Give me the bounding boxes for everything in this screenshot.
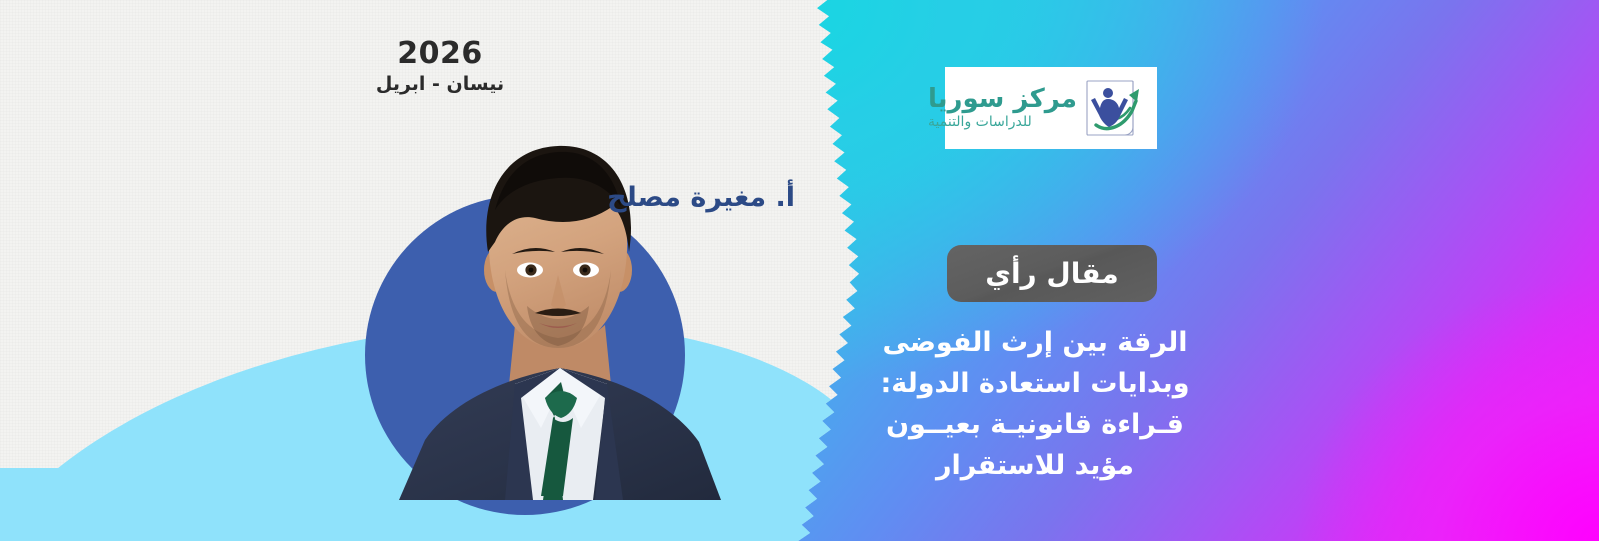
portrait-svg: [355, 110, 755, 500]
organization-logo[interactable]: مركز سوريا للدراسات والتنمية: [945, 67, 1157, 149]
logo-text-block: مركز سوريا للدراسات والتنمية: [928, 86, 1077, 131]
date-block: 2026 نيسان - ابريل: [345, 38, 535, 94]
author-name: أ. مغيرة مصلح: [600, 182, 795, 214]
headline-line-4: مؤيد للاستقرار: [860, 445, 1210, 486]
person-with-raised-arms-and-growth-arrow-icon: [1083, 75, 1149, 141]
torn-paper-panel: 2026 نيسان - ابريل: [0, 0, 860, 541]
author-portrait: [355, 110, 755, 500]
date-month: نيسان - ابريل: [345, 74, 535, 95]
logo-title: مركز سوريا: [928, 86, 1077, 113]
headline-line-1: الرقة بين إرث الفوضى: [860, 322, 1210, 363]
banner-root: 2026 نيسان - ابريل: [0, 0, 1599, 541]
logo-subtitle: للدراسات والتنمية: [928, 115, 1032, 130]
headline-line-2: وبدايات استعادة الدولة:: [860, 363, 1210, 404]
date-year: 2026: [345, 38, 535, 70]
article-headline: الرقة بين إرث الفوضى وبدايات استعادة الد…: [860, 322, 1210, 486]
article-type-badge-label: مقال رأي: [985, 260, 1118, 288]
headline-line-3: قـراءة قانونيـة بعيــون: [860, 404, 1210, 445]
article-type-badge[interactable]: مقال رأي: [947, 245, 1157, 302]
